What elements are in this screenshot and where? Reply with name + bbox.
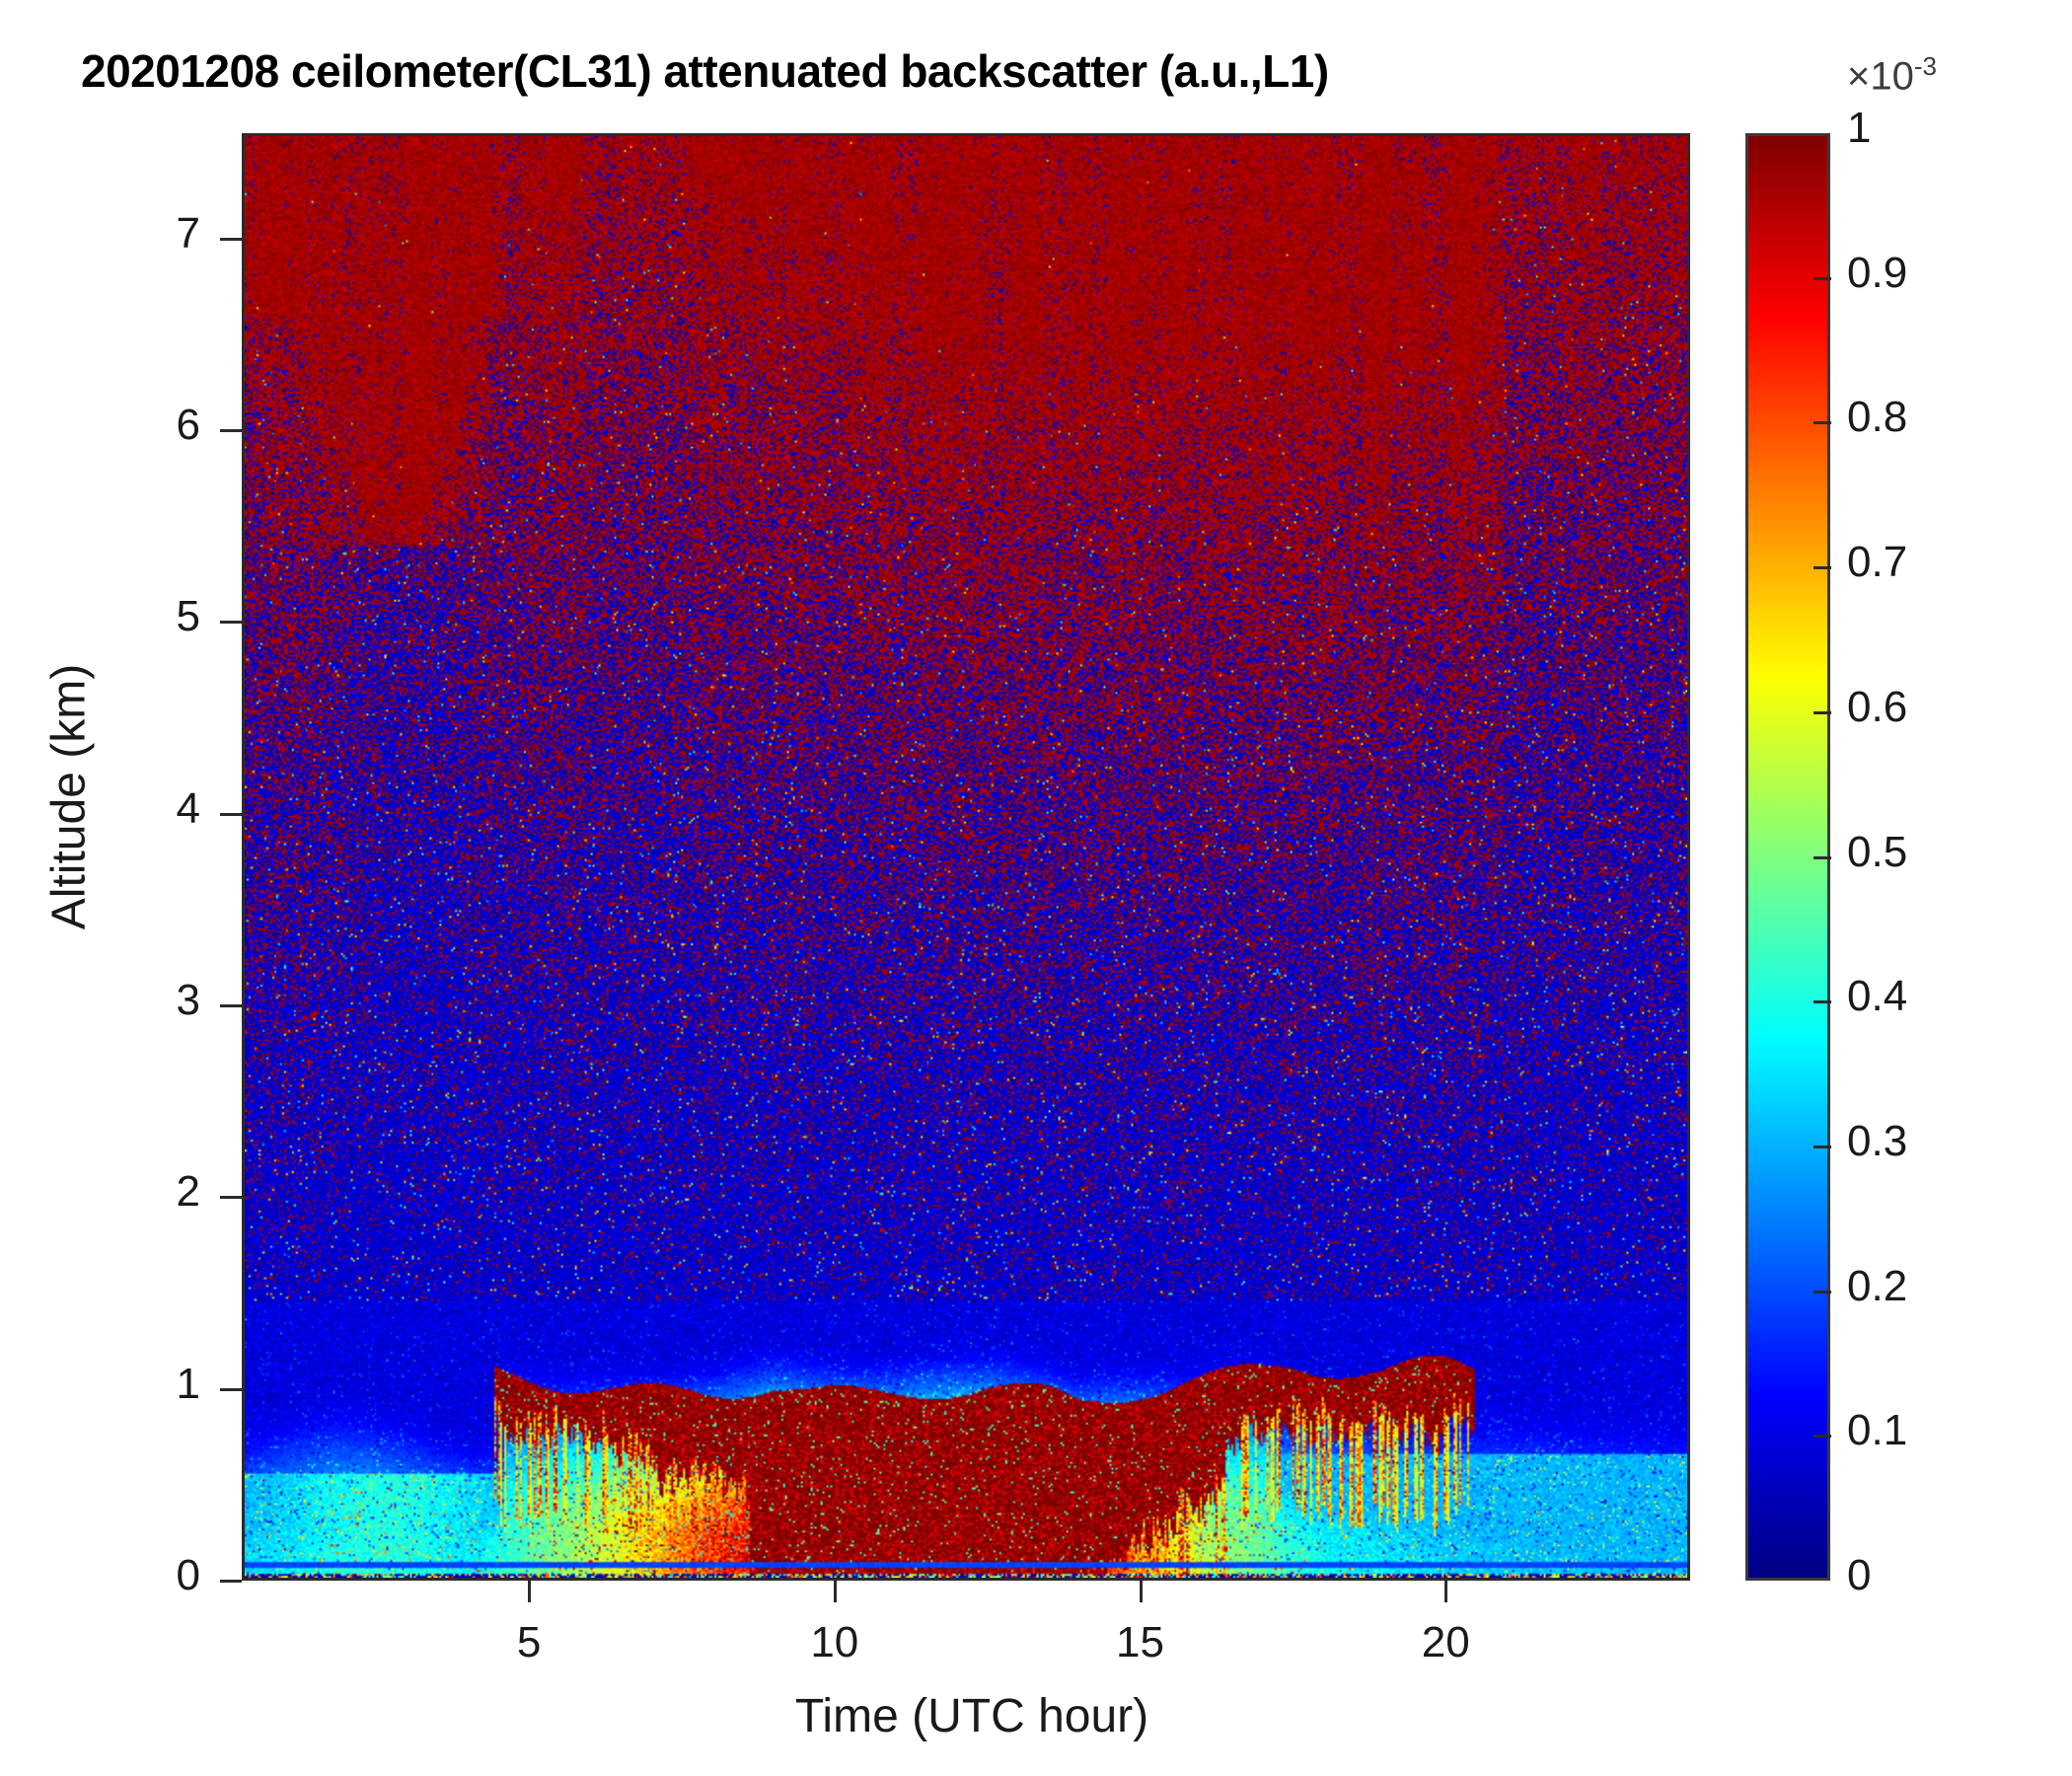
y-axis-tick-label: 3 xyxy=(82,976,222,1025)
colorbar-tick-label: 0.5 xyxy=(1847,828,1995,877)
x-axis-tick xyxy=(528,1581,531,1602)
colorbar-tick-label: 0.4 xyxy=(1847,972,1995,1021)
x-axis-tick xyxy=(1140,1581,1143,1602)
colorbar-multiplier-label: ×10-3 xyxy=(1847,51,1937,99)
y-axis-tick xyxy=(220,1388,242,1391)
colorbar-tick xyxy=(1813,421,1831,424)
colorbar-tick xyxy=(1813,277,1831,280)
heatmap-plot-area xyxy=(242,133,1690,1581)
x-axis-tick-label: 5 xyxy=(460,1618,598,1667)
colorbar-tick-label: 0.6 xyxy=(1847,683,1995,732)
y-axis-tick-label: 4 xyxy=(82,784,222,834)
x-axis-label: Time (UTC hour) xyxy=(636,1689,1307,1743)
y-axis-label: Altitude (km) xyxy=(42,521,97,1073)
y-axis-tick-label: 7 xyxy=(82,209,222,259)
x-axis-tick-label: 20 xyxy=(1376,1618,1515,1667)
colorbar-tick-label: 1 xyxy=(1847,104,1995,153)
colorbar-tick-label: 0.2 xyxy=(1847,1262,1995,1311)
colorbar-tick-label: 0.9 xyxy=(1847,249,1995,298)
colorbar-tick xyxy=(1813,711,1831,714)
x-axis-tick-label: 15 xyxy=(1072,1618,1210,1667)
y-axis-tick-label: 2 xyxy=(82,1167,222,1217)
y-axis-tick-label: 0 xyxy=(82,1551,222,1600)
colorbar-tick xyxy=(1813,856,1831,859)
y-axis-tick xyxy=(220,238,242,241)
colorbar-tick-label: 0.3 xyxy=(1847,1117,1995,1166)
y-axis-tick xyxy=(220,1004,242,1007)
y-axis-tick-label: 5 xyxy=(82,592,222,641)
y-axis-tick xyxy=(220,429,242,432)
figure-canvas: 20201208 ceilometer(CL31) attenuated bac… xyxy=(0,0,2072,1776)
colorbar-tick-label: 0.7 xyxy=(1847,538,1995,587)
colorbar-tick-label: 0.8 xyxy=(1847,393,1995,442)
colorbar-tick xyxy=(1813,1000,1831,1003)
colorbar-tick xyxy=(1813,1146,1831,1148)
x-axis-tick-label: 10 xyxy=(766,1618,904,1667)
colorbar-tick-label: 0.1 xyxy=(1847,1406,1995,1455)
colorbar-tick-label: 0 xyxy=(1847,1551,1995,1600)
x-axis-tick xyxy=(834,1581,837,1602)
x-axis-tick xyxy=(1444,1581,1447,1602)
colorbar-multiplier-base: ×10 xyxy=(1847,54,1914,98)
colorbar-multiplier-exponent: -3 xyxy=(1914,51,1937,81)
y-axis-tick-label: 6 xyxy=(82,401,222,450)
y-axis-tick xyxy=(220,1196,242,1199)
heatmap-image xyxy=(245,136,1687,1578)
colorbar-tick xyxy=(1813,1291,1831,1294)
y-axis-tick-label: 1 xyxy=(82,1360,222,1409)
y-axis-tick xyxy=(220,813,242,816)
y-axis-tick xyxy=(220,621,242,624)
y-axis-tick xyxy=(220,1580,242,1583)
colorbar-tick xyxy=(1813,566,1831,569)
colorbar-tick xyxy=(1813,1435,1831,1438)
page-title: 20201208 ceilometer(CL31) attenuated bac… xyxy=(81,44,1329,98)
